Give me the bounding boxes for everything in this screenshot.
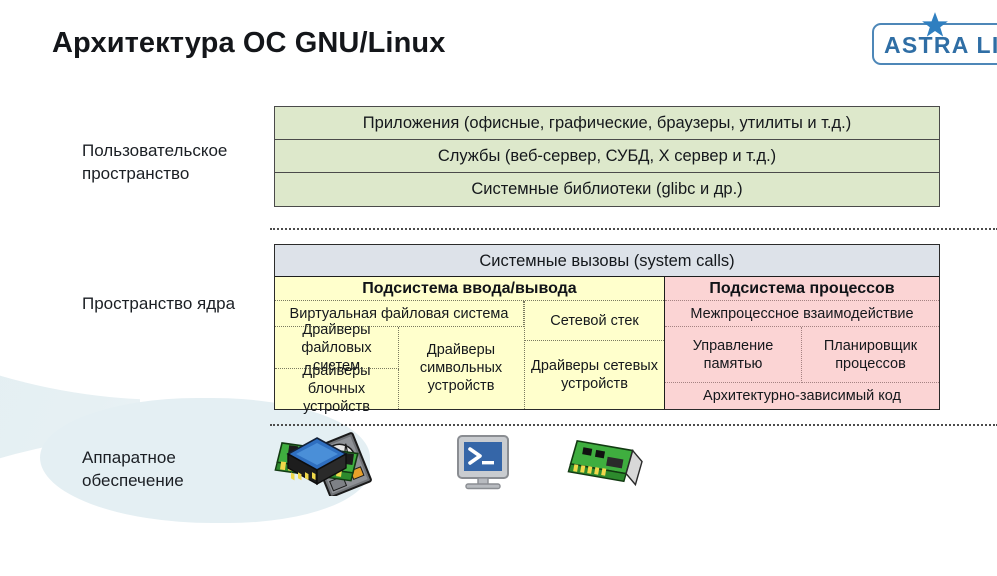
monitor-terminal-icon <box>440 432 526 496</box>
system-calls-bar: Системные вызовы (system calls) <box>275 245 939 277</box>
cell-network-device-drivers: Драйверы сетевых устройств <box>525 341 664 409</box>
io-right-column: Сетевой стек Драйверы сетевых устройств <box>524 301 664 409</box>
section-label-hardware: Аппаратное обеспечение <box>82 446 272 492</box>
io-subsystem-title: Подсистема ввода/вывода <box>275 277 664 301</box>
io-subsystem: Подсистема ввода/вывода Виртуальная файл… <box>275 277 665 409</box>
process-subsystem: Подсистема процессов Межпроцессное взаим… <box>665 277 939 409</box>
user-space-row-services: Службы (веб-сервер, СУБД, X сервер и т.д… <box>275 140 939 173</box>
divider-user-kernel <box>270 228 997 230</box>
cell-memory-management: Управление памятью <box>665 327 802 383</box>
cell-block-device-drivers: Драйверы блочных устройств <box>275 369 399 409</box>
io-column-char: Драйверы символьных устройств <box>399 327 523 409</box>
process-subsystem-title: Подсистема процессов <box>665 277 939 301</box>
astra-linux-logo: ASTRA LIN <box>872 23 997 65</box>
io-left-columns: Виртуальная файловая система Драйверы фа… <box>275 301 524 409</box>
cell-network-stack: Сетевой стек <box>525 301 664 341</box>
cell-ipc: Межпроцессное взаимодействие <box>665 301 939 327</box>
io-column-filesystem: Драйверы файловых систем Драйверы блочны… <box>275 327 399 409</box>
cell-char-device-drivers: Драйверы символьных устройств <box>399 327 523 409</box>
divider-kernel-hardware <box>270 424 997 426</box>
cell-arch-dependent-code: Архитектурно-зависимый код <box>665 383 939 409</box>
user-space-row-applications: Приложения (офисные, графические, браузе… <box>275 107 939 140</box>
cell-process-scheduler: Планировщик процессов <box>802 327 939 383</box>
hardware-icon-row <box>274 432 940 498</box>
logo-text: ASTRA LIN <box>884 32 997 59</box>
cpu-chip-icon <box>274 432 360 496</box>
section-label-kernel-space: Пространство ядра <box>82 292 272 315</box>
network-card-icon <box>564 432 650 496</box>
section-label-user-space: Пользовательское пространство <box>82 139 272 185</box>
page-title: Архитектура ОС GNU/Linux <box>52 27 445 60</box>
slide-canvas: Архитектура ОС GNU/Linux ASTRA LIN Польз… <box>0 0 997 576</box>
kernel-space-block: Системные вызовы (system calls) Подсисте… <box>274 244 940 410</box>
user-space-row-libraries: Системные библиотеки (glibc и др.) <box>275 173 939 206</box>
user-space-block: Приложения (офисные, графические, браузе… <box>274 106 940 207</box>
